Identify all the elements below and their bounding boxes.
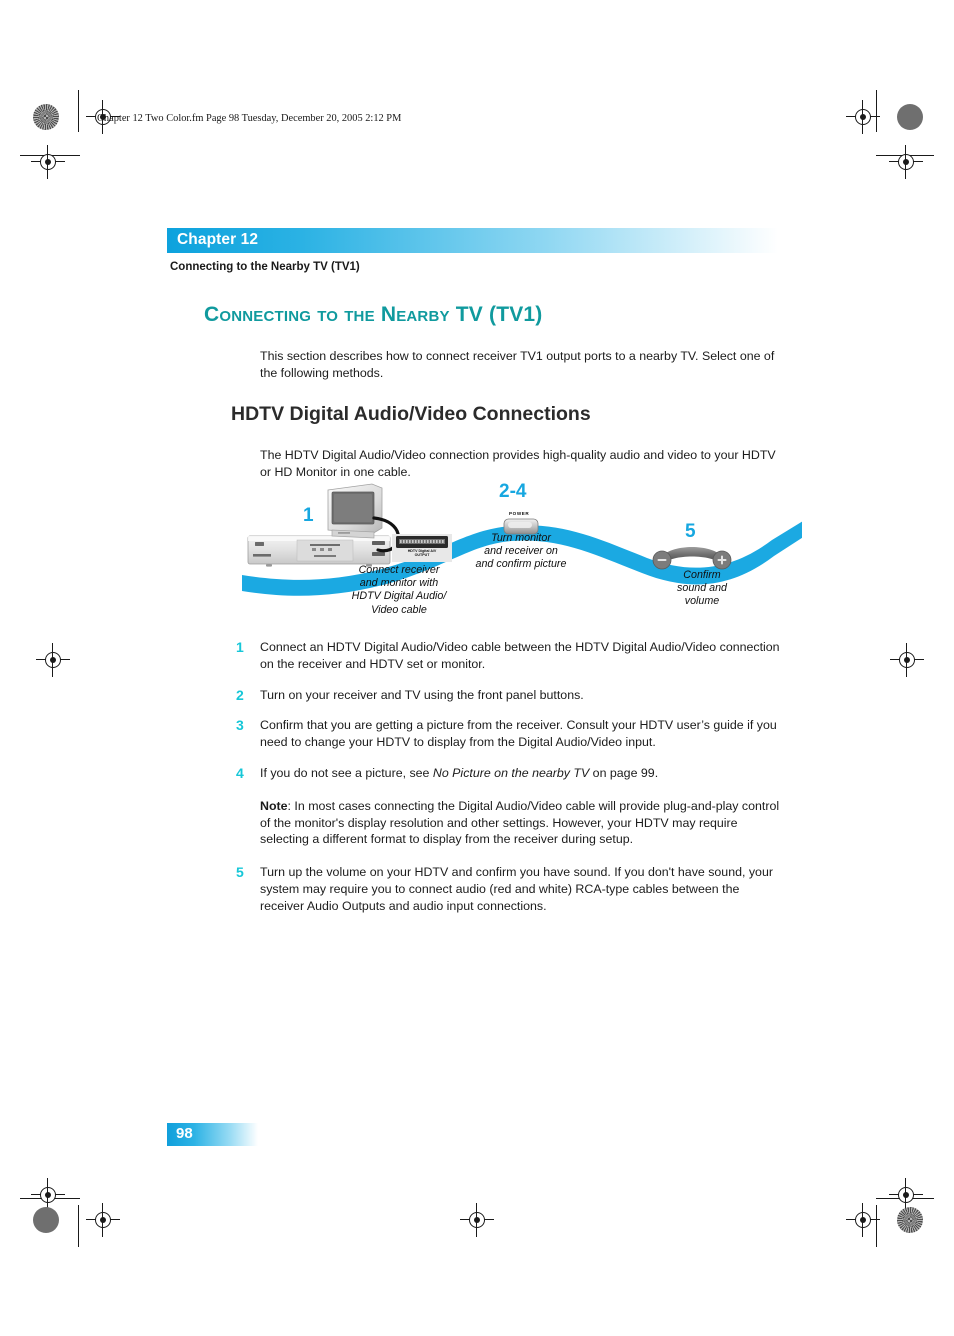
figure-callout-1: 1 — [303, 506, 314, 525]
figure-caption-2-line-2: and receiver on — [446, 545, 596, 558]
instruction-step-list: 1 Connect an HDTV Digital Audio/Video ca… — [227, 639, 783, 929]
crop-line-bottom-right-v — [876, 1205, 877, 1247]
section-heading: HDTV Digital Audio/Video Connections — [231, 403, 591, 426]
step-text: Confirm that you are getting a picture f… — [260, 717, 783, 751]
halftone-dot-bottom-left — [33, 1207, 59, 1233]
figure-callout-5: 5 — [685, 522, 696, 541]
instruction-step: 4 If you do not see a picture, see No Pi… — [227, 765, 783, 782]
instruction-step: 1 Connect an HDTV Digital Audio/Video ca… — [227, 639, 783, 673]
monitor-device — [328, 484, 382, 538]
running-head: Connecting to the Nearby TV (TV1) — [170, 261, 360, 273]
registration-mark-left-middle — [36, 643, 70, 677]
figure-caption-5: Confirm sound and volume — [647, 569, 757, 609]
crop-line-right-top-h — [876, 155, 934, 156]
figure-caption-5-line-2: sound and — [647, 582, 757, 595]
crop-line-top-right-v — [876, 90, 877, 132]
step-text: Turn up the volume on your HDTV and conf… — [260, 864, 783, 914]
step-number: 2 — [236, 687, 244, 703]
step-text-pre: If you do not see a picture, see — [260, 766, 433, 780]
figure-caption-1-line-4: Video cable — [318, 604, 480, 617]
intro-paragraph: This section describes how to connect re… — [260, 348, 782, 381]
figure-caption-1-line-2: and monitor with — [318, 577, 480, 590]
page-number: 98 — [176, 1125, 193, 1142]
chapter-banner-label: Chapter 12 — [177, 231, 258, 249]
halftone-dot-top-right — [897, 104, 923, 130]
connector-label-line2: OUTPUT — [392, 553, 452, 557]
note-label: Note — [260, 799, 288, 813]
step-text-reference: No Picture on the nearby TV — [433, 766, 589, 780]
step-number: 4 — [236, 765, 244, 781]
registration-mark-top-right — [846, 100, 880, 134]
registration-mark-left-upper — [31, 145, 65, 179]
step-number: 3 — [236, 717, 244, 733]
instruction-step: 5 Turn up the volume on your HDTV and co… — [227, 864, 783, 914]
hdtv-av-connector — [392, 534, 452, 562]
crop-line-left-bottom-h — [20, 1198, 80, 1199]
registration-mark-right-middle — [890, 643, 924, 677]
receiver-device — [248, 536, 390, 567]
note-text: : In most cases connecting the Digital A… — [260, 799, 779, 847]
halftone-dot-bottom-right — [897, 1207, 923, 1233]
instruction-step: 3 Confirm that you are getting a picture… — [227, 717, 783, 751]
instruction-step: 2 Turn on your receiver and TV using the… — [227, 687, 783, 704]
step-text: If you do not see a picture, see No Pict… — [260, 765, 783, 782]
registration-mark-right-upper — [889, 145, 923, 179]
chapter-banner: Chapter 12 — [167, 228, 778, 253]
section-lead-paragraph: The HDTV Digital Audio/Video connection … — [260, 447, 782, 480]
page-number-bar: 98 — [167, 1123, 258, 1146]
step-text: Connect an HDTV Digital Audio/Video cabl… — [260, 639, 783, 673]
figure-caption-2-line-3: and confirm picture — [446, 558, 596, 571]
figure-caption-2-line-1: Turn monitor — [446, 532, 596, 545]
page-title: Connecting to the Nearby TV (TV1) — [204, 303, 543, 327]
power-button-label: POWER — [509, 511, 529, 516]
figure-caption-5-line-3: volume — [647, 595, 757, 608]
halftone-dot-top-left — [33, 104, 59, 130]
note-block: Note: In most cases connecting the Digit… — [260, 798, 783, 848]
figure-callout-2-4: 2-4 — [499, 482, 526, 501]
step-text: Turn on your receiver and TV using the f… — [260, 687, 783, 704]
crop-line-right-bottom-h — [876, 1198, 934, 1199]
registration-mark-bottom-right — [846, 1203, 880, 1237]
step-number: 1 — [236, 639, 244, 655]
crop-line-bottom-left-v — [78, 1205, 79, 1247]
figure-caption-1: Connect receiver and monitor with HDTV D… — [318, 564, 480, 617]
volume-rocker-graphic — [653, 547, 731, 569]
step-number: 5 — [236, 864, 244, 880]
connection-diagram: 1 2-4 5 HDTV Digital A/V OUTPUT POWER Co… — [242, 478, 802, 628]
registration-mark-bottom-left — [86, 1203, 120, 1237]
crop-line-left-top-h — [20, 155, 80, 156]
figure-caption-2-4: Turn monitor and receiver on and confirm… — [446, 532, 596, 572]
figure-caption-5-line-1: Confirm — [647, 569, 757, 582]
crop-line-top-left-v — [78, 90, 79, 132]
page-content: Chapter 12 Connecting to the Nearby TV (… — [167, 0, 787, 1336]
step-text-post: on page 99. — [589, 766, 658, 780]
figure-caption-1-line-3: HDTV Digital Audio/ — [318, 590, 480, 603]
